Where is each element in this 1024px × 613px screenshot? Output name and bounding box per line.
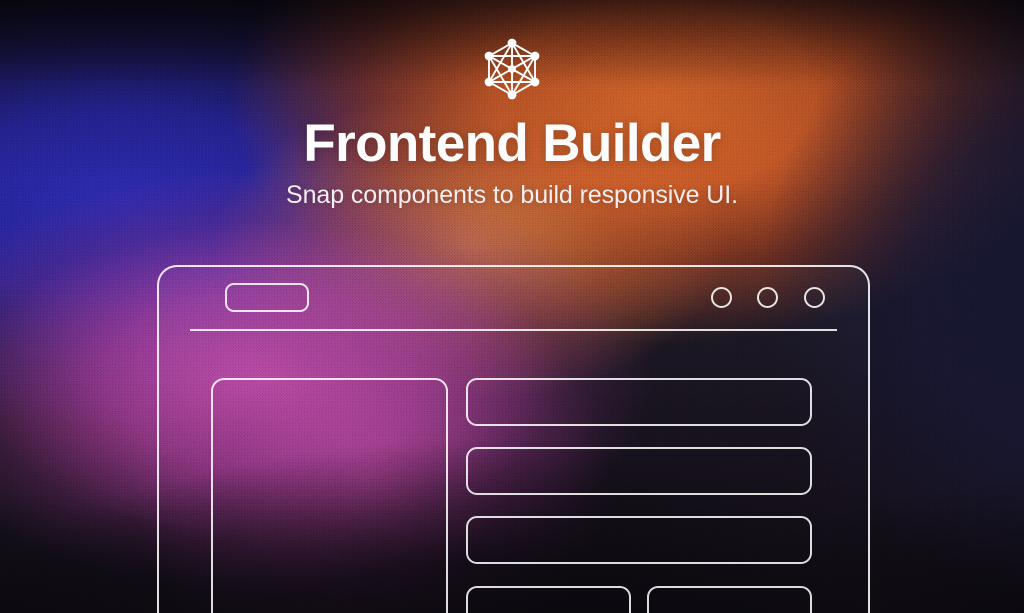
window-dot-icon[interactable] [757, 287, 778, 308]
hexagon-network-icon [479, 36, 545, 102]
page-subtitle: Snap components to build responsive UI. [0, 180, 1024, 211]
address-bar-pill[interactable] [225, 283, 309, 312]
toolbar-divider [190, 329, 837, 331]
content-card-1[interactable] [466, 586, 631, 613]
content-row-2[interactable] [466, 447, 812, 495]
poster-canvas: Frontend Builder Snap components to buil… [0, 0, 1024, 613]
browser-window-wireframe [157, 265, 870, 613]
sidebar-placeholder[interactable] [211, 378, 448, 613]
window-dot-icon[interactable] [804, 287, 825, 308]
window-dot-icon[interactable] [711, 287, 732, 308]
content-card-2[interactable] [647, 586, 812, 613]
content-row-3[interactable] [466, 516, 812, 564]
content-row-1[interactable] [466, 378, 812, 426]
page-title: Frontend Builder [0, 117, 1024, 170]
